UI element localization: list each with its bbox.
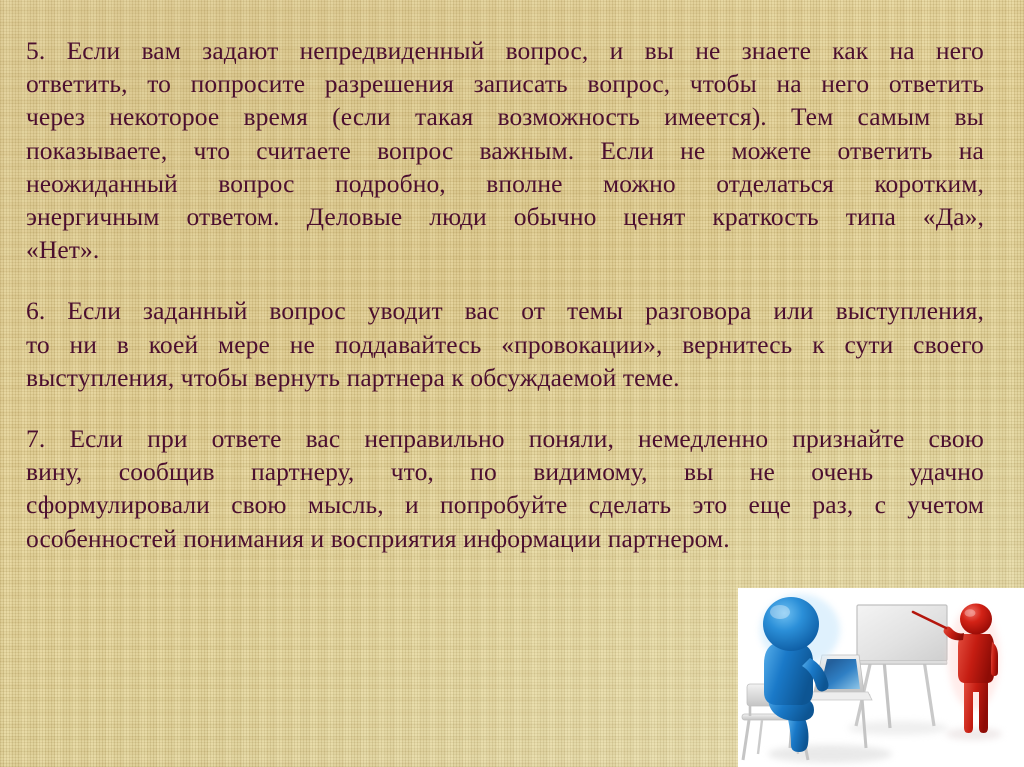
illustration-presentation-scene bbox=[738, 588, 1024, 767]
paragraph-7: 7.Еслиприответеваснеправильнопоняли,неме… bbox=[26, 422, 984, 555]
red-figure-head bbox=[960, 604, 992, 635]
paragraph-5-line-2: ответить,топопроситеразрешениязаписатьво… bbox=[26, 67, 984, 100]
laptop-keyboard bbox=[804, 692, 872, 700]
blue-figure-torso bbox=[764, 644, 813, 705]
illustration-svg bbox=[738, 588, 1024, 767]
slide-canvas: 5.Есливамзадаютнепредвиденныйвопрос,ивын… bbox=[0, 0, 1024, 767]
paragraph-6-line-2: тонивкоеймеренеподдавайтесь«провокации»,… bbox=[26, 328, 984, 361]
paragraph-5-line-4: показываете,чтосчитаетевопросважным.Если… bbox=[26, 134, 984, 167]
paragraph-7-line-2: вину,сообщивпартнеру,что,повидимому,выне… bbox=[26, 455, 984, 488]
paragraph-5-line-7: «Нет». bbox=[26, 233, 984, 266]
paragraph-6-line-3: выступления, чтобы вернуть партнера к об… bbox=[26, 361, 984, 394]
blue-figure-head bbox=[763, 597, 819, 651]
paragraph-6: 6.Еслизаданныйвопросуводитвасоттемыразго… bbox=[26, 294, 984, 394]
paragraph-5-line-3: черезнекотороевремя(еслитакаявозможность… bbox=[26, 100, 984, 133]
paragraph-7-line-1: 7.Еслиприответеваснеправильнопоняли,неме… bbox=[26, 422, 984, 455]
red-figure-torso bbox=[958, 634, 994, 683]
floor-shadow-right bbox=[946, 728, 1002, 740]
paragraph-7-line-3: сформулировалисвоюмысль,ипопробуйтесдела… bbox=[26, 488, 984, 521]
red-figure-head-highlight bbox=[965, 609, 976, 617]
paragraph-7-line-4: особенностей понимания и восприятия инфо… bbox=[26, 522, 984, 555]
whiteboard-tray bbox=[857, 661, 947, 665]
paragraph-5: 5.Есливамзадаютнепредвиденныйвопрос,ивын… bbox=[26, 34, 984, 266]
slide-text-body: 5.Есливамзадаютнепредвиденныйвопрос,ивын… bbox=[26, 34, 984, 555]
paragraph-5-line-6: энергичнымответом.Деловыелюдиобычноценят… bbox=[26, 200, 984, 233]
paragraph-5-line-5: неожиданныйвопросподробно,вполнеможноотд… bbox=[26, 167, 984, 200]
blue-figure-head-highlight bbox=[770, 605, 790, 619]
whiteboard-panel bbox=[857, 605, 947, 661]
paragraph-5-line-1: 5.Есливамзадаютнепредвиденныйвопрос,ивын… bbox=[26, 34, 984, 67]
paragraph-6-line-1: 6.Еслизаданныйвопросуводитвасоттемыразго… bbox=[26, 294, 984, 327]
floor-shadow-left bbox=[768, 745, 892, 763]
